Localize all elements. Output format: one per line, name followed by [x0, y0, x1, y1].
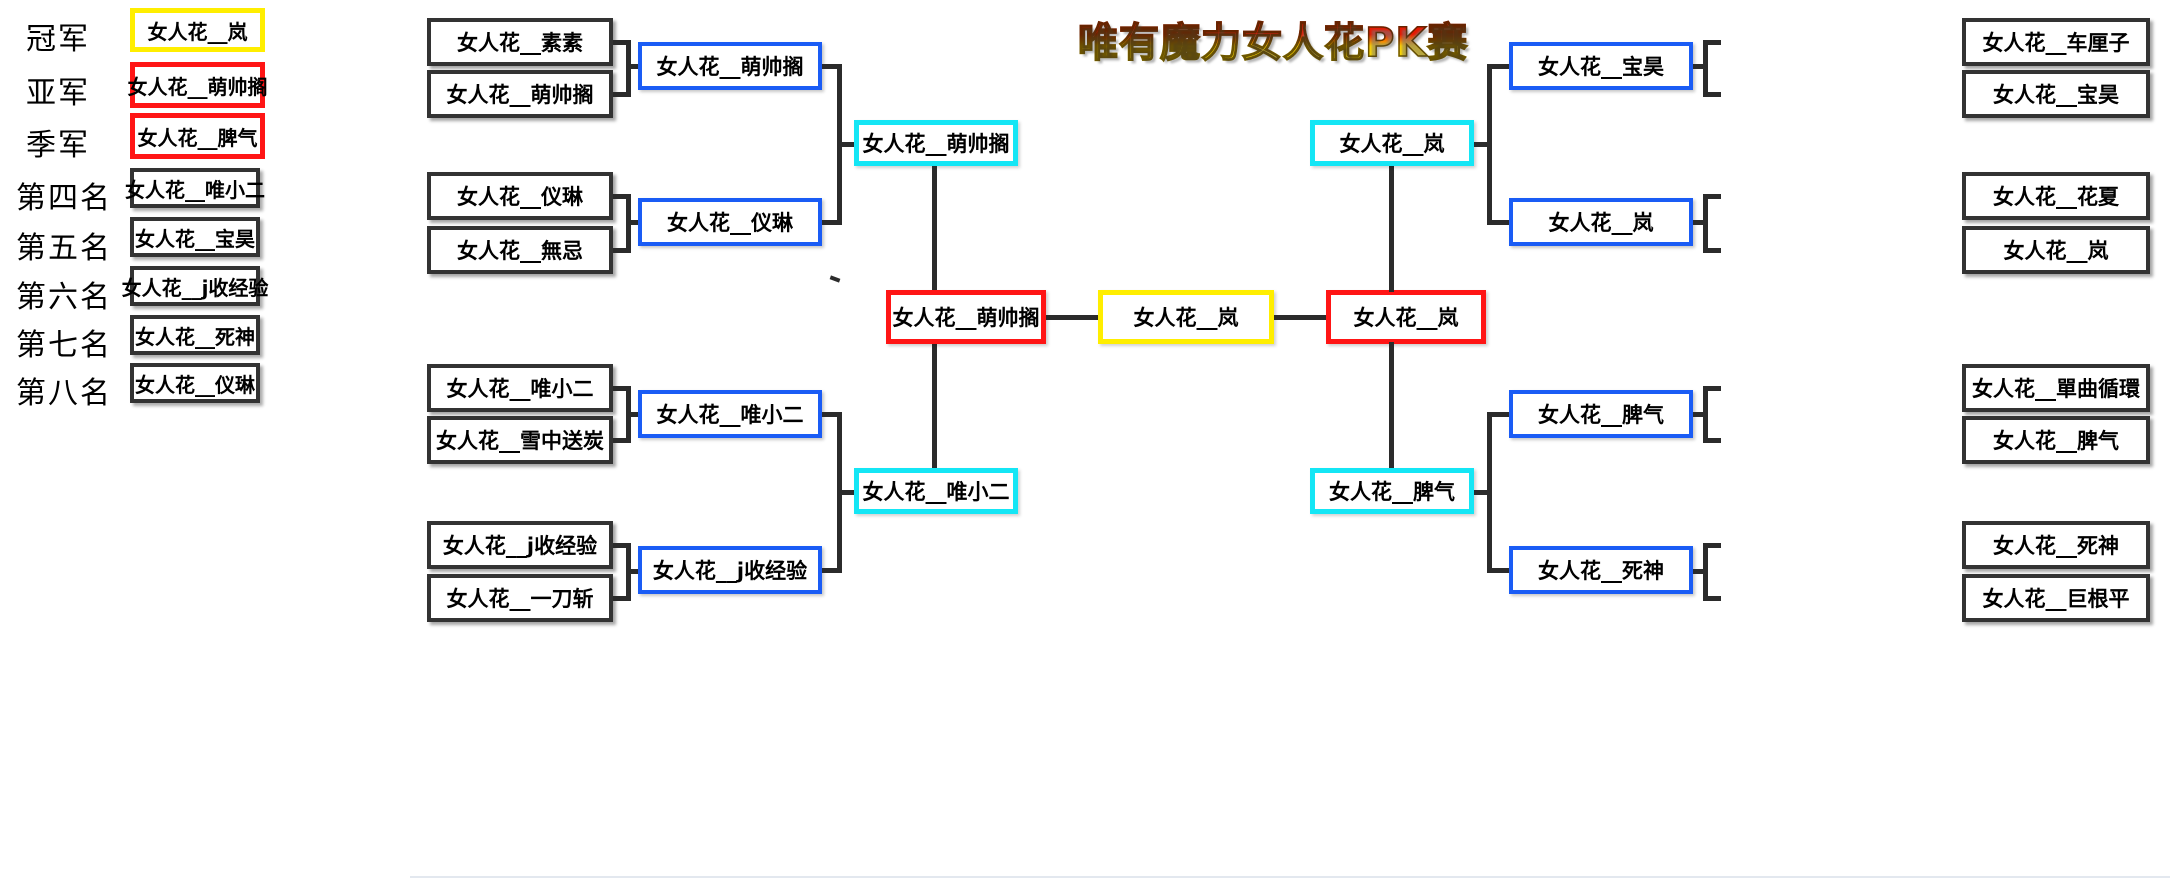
left-r1-box-8[interactable]: 女人花__一刀斩 — [427, 574, 613, 622]
rank-box-eighth[interactable]: 女人花__仪琳 — [130, 363, 260, 403]
left-r2-box-1[interactable]: 女人花__萌帅搁 — [638, 42, 822, 90]
bottom-divider — [410, 876, 2170, 878]
rank-box-runner-up[interactable]: 女人花__萌帅搁 — [130, 62, 265, 108]
right-r2-box-2[interactable]: 女人花__岚 — [1509, 198, 1693, 246]
left-r1-box-3[interactable]: 女人花__仪琳 — [427, 172, 613, 220]
left-r1-box-2[interactable]: 女人花__萌帅搁 — [427, 70, 613, 118]
rank-label-7: 第七名 — [16, 320, 112, 364]
right-r2-box-4[interactable]: 女人花__死神 — [1509, 546, 1693, 594]
rank-label-6: 第六名 — [16, 272, 112, 316]
left-r1-box-6[interactable]: 女人花__雪中送炭 — [427, 416, 613, 464]
rank-label-2: 亚军 — [26, 68, 90, 112]
rank-box-sixth[interactable]: 女人花__j收经验 — [130, 266, 260, 306]
right-semifinal-box-2[interactable]: 女人花__脾气 — [1310, 468, 1474, 514]
rank-box-seventh[interactable]: 女人花__死神 — [130, 315, 260, 355]
rank-box-fifth[interactable]: 女人花__宝昊 — [130, 217, 260, 257]
left-r1-box-1[interactable]: 女人花__素素 — [427, 18, 613, 66]
left-semifinal-box-2[interactable]: 女人花__唯小二 — [854, 468, 1018, 514]
tournament-bracket-canvas: 唯有魔力女人花PK赛 冠军 亚军 季军 第四名 第五名 第六名 第七名 第八名 … — [0, 0, 2174, 884]
rank-box-third[interactable]: 女人花__脾气 — [130, 113, 265, 159]
right-r1-box-1[interactable]: 女人花__车厘子 — [1962, 18, 2150, 66]
right-semifinal-box-1[interactable]: 女人花__岚 — [1310, 120, 1474, 166]
rank-label-4: 第四名 — [16, 173, 112, 217]
right-r1-box-6[interactable]: 女人花__脾气 — [1962, 416, 2150, 464]
left-r1-box-7[interactable]: 女人花__j收经验 — [427, 521, 613, 569]
stray-tick-mark — [830, 275, 841, 282]
rank-box-champion[interactable]: 女人花__岚 — [130, 8, 265, 52]
right-r1-box-8[interactable]: 女人花__巨根平 — [1962, 574, 2150, 622]
right-r1-box-7[interactable]: 女人花__死神 — [1962, 521, 2150, 569]
right-r1-box-3[interactable]: 女人花__花夏 — [1962, 172, 2150, 220]
rank-label-8: 第八名 — [16, 368, 112, 412]
left-r2-box-2[interactable]: 女人花__仪琳 — [638, 198, 822, 246]
rank-label-3: 季军 — [26, 120, 90, 164]
rank-label-1: 冠军 — [26, 14, 90, 58]
right-r2-box-3[interactable]: 女人花__脾气 — [1509, 390, 1693, 438]
page-title: 唯有魔力女人花PK赛 — [1078, 10, 1468, 68]
left-r1-box-5[interactable]: 女人花__唯小二 — [427, 364, 613, 412]
left-r1-box-4[interactable]: 女人花__無忌 — [427, 226, 613, 274]
left-semifinal-box-1[interactable]: 女人花__萌帅搁 — [854, 120, 1018, 166]
rank-label-5: 第五名 — [16, 223, 112, 267]
left-r2-box-3[interactable]: 女人花__唯小二 — [638, 390, 822, 438]
champion-box[interactable]: 女人花__岚 — [1098, 290, 1274, 344]
right-r1-box-5[interactable]: 女人花__單曲循環 — [1962, 364, 2150, 412]
left-finalist-box[interactable]: 女人花__萌帅搁 — [886, 290, 1046, 344]
right-r1-box-2[interactable]: 女人花__宝昊 — [1962, 70, 2150, 118]
rank-box-fourth[interactable]: 女人花__唯小二 — [130, 168, 260, 208]
right-finalist-box[interactable]: 女人花__岚 — [1326, 290, 1486, 344]
left-r2-box-4[interactable]: 女人花__j收经验 — [638, 546, 822, 594]
right-r2-box-1[interactable]: 女人花__宝昊 — [1509, 42, 1693, 90]
right-r1-box-4[interactable]: 女人花__岚 — [1962, 226, 2150, 274]
